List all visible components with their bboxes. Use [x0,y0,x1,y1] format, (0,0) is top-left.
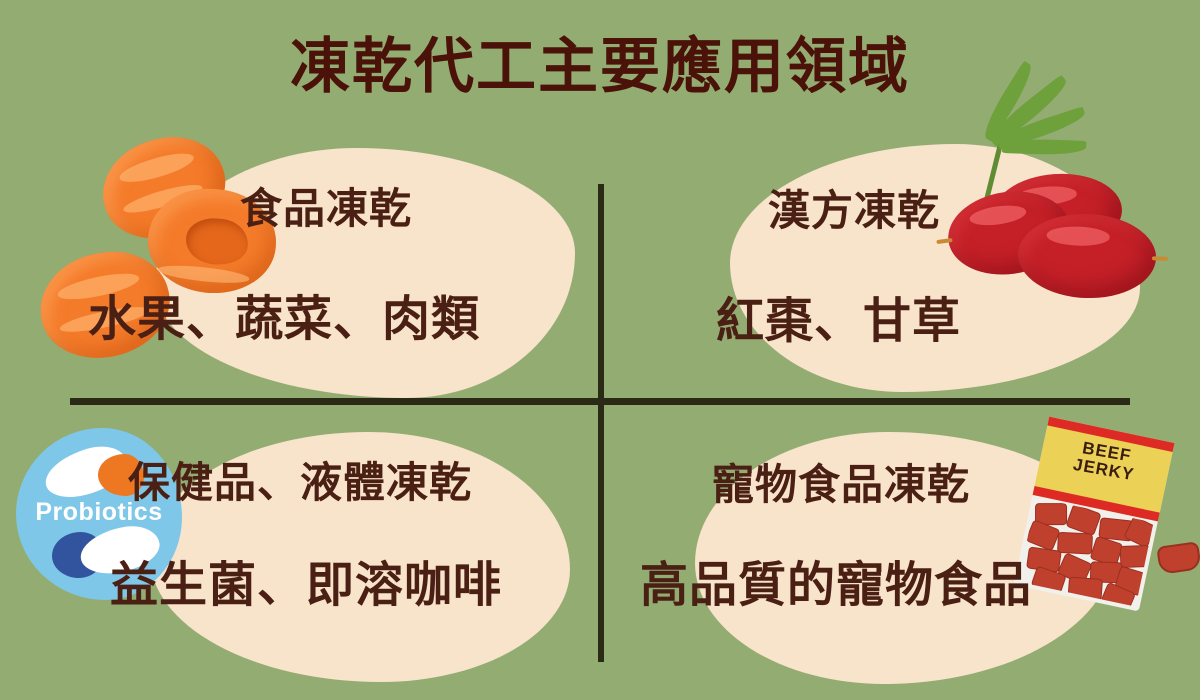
date-stem [936,238,952,244]
jerky-chunk-loose [1156,541,1200,575]
date-stem [1152,257,1168,262]
quadrant-heading-herbal: 漢方凍乾 [768,190,940,232]
date-highlight [969,203,1027,229]
apricot-ridge [157,263,250,286]
beef-jerky-bag-icon: BEEF JERKY [1022,420,1200,630]
jujube-date [1017,212,1158,301]
quadrant-heading-supplement: 保健品、液體凍乾 [128,462,472,504]
palm-leaf-icon [1002,138,1086,156]
jerky-chunk [1068,577,1103,601]
quadrant-subtitle-food: 水果、蔬菜、肉類 [88,296,480,344]
quadrant-subtitle-pet-food: 高品質的寵物食品 [640,562,1032,610]
red-jujube-dates-icon [930,118,1200,328]
jerky-package: BEEF JERKY [1014,417,1175,612]
jerky-chunk [1120,545,1151,568]
apricot-ridge [117,148,196,188]
jerky-chunk [1057,532,1093,555]
quadrant-heading-pet-food: 寵物食品凍乾 [712,464,970,506]
quadrant-subtitle-herbal: 紅棗、甘草 [716,298,961,346]
quadrant-subtitle-supplement: 益生菌、即溶咖啡 [110,562,502,610]
date-highlight [1046,226,1110,247]
quadrant-heading-food: 食品凍乾 [240,188,412,230]
infographic-canvas: 凍乾代工主要應用領域 食品凍乾 水果、蔬菜、肉類 [0,0,1200,700]
